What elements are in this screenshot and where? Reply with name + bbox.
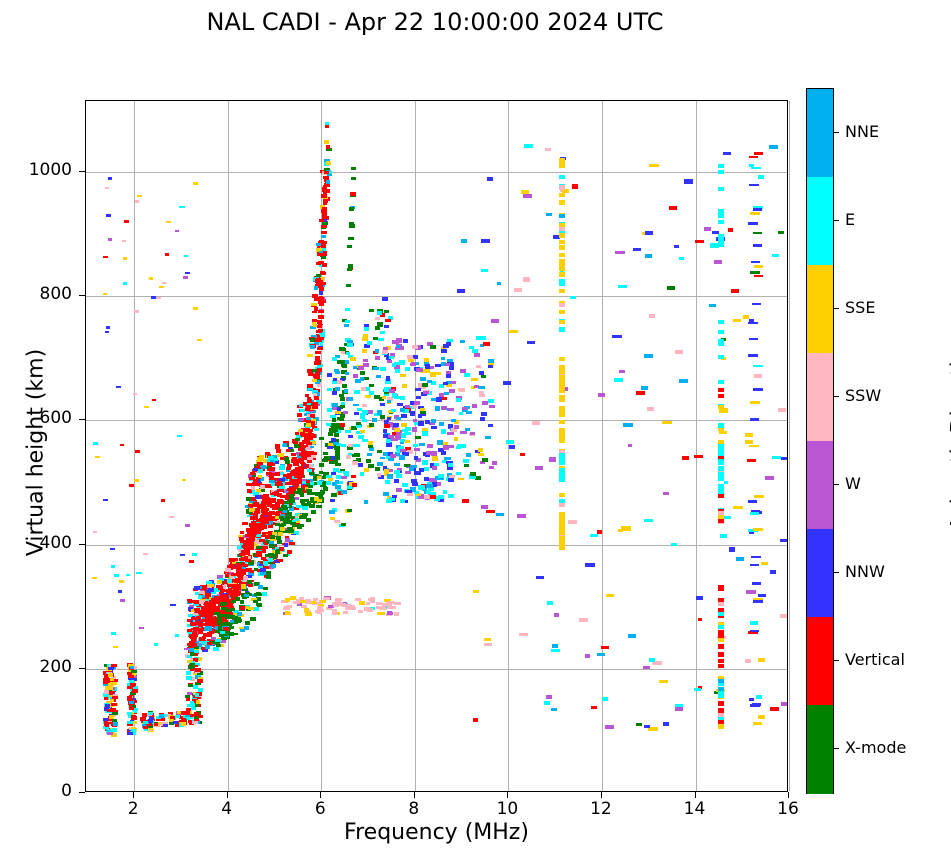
echo-point [559, 161, 565, 165]
echo-point [341, 444, 346, 447]
echo-point [129, 484, 133, 487]
echo-point [718, 339, 724, 343]
echo-point [754, 374, 762, 378]
echo-point [343, 471, 349, 475]
echo-point [385, 480, 390, 484]
echo-point [559, 412, 565, 416]
echo-point [316, 278, 321, 282]
echo-point [523, 277, 530, 281]
echo-point [269, 480, 275, 483]
echo-point [258, 475, 263, 479]
echo-point [367, 341, 372, 345]
echo-point [111, 703, 117, 707]
echo-point [698, 618, 703, 621]
echo-point [405, 440, 411, 443]
echo-point [131, 729, 137, 732]
echo-point [222, 602, 227, 605]
echo-point [368, 410, 373, 414]
echo-point [165, 253, 170, 256]
echo-point [478, 453, 484, 456]
echo-point [459, 412, 464, 416]
echo-point [341, 523, 346, 526]
echo-point [750, 512, 760, 515]
echo-point [748, 354, 758, 357]
echo-point [443, 445, 449, 450]
echo-point [110, 678, 115, 681]
echo-point [127, 698, 132, 702]
echo-point [122, 240, 127, 243]
x-tick [133, 792, 134, 798]
echo-point [478, 448, 483, 452]
echo-point [195, 592, 199, 596]
echo-point [487, 177, 493, 181]
echo-point [380, 415, 385, 419]
echo-point [253, 531, 258, 535]
echo-point [336, 475, 341, 478]
echo-point [240, 600, 244, 604]
echo-point [319, 287, 324, 291]
echo-point [250, 617, 255, 621]
echo-point [264, 502, 269, 505]
echo-point [321, 225, 326, 228]
echo-point [753, 244, 763, 247]
echo-point [335, 450, 339, 454]
echo-point [579, 618, 588, 622]
echo-point [119, 580, 124, 583]
echo-point [305, 499, 309, 502]
echo-point [323, 458, 328, 462]
colorbar-tick [833, 308, 839, 309]
echo-point [321, 231, 326, 234]
echo-point [422, 431, 429, 436]
echo-point [718, 320, 724, 324]
echo-point [559, 473, 565, 477]
echo-point [319, 437, 324, 440]
echo-point [621, 526, 631, 530]
echo-point [772, 254, 779, 257]
echo-point [233, 633, 238, 636]
echo-point [368, 464, 373, 468]
echo-point [104, 696, 109, 700]
echo-point [347, 486, 353, 489]
echo-point [765, 476, 774, 480]
echo-point [426, 484, 432, 488]
echo-point [718, 585, 724, 589]
echo-point [335, 485, 341, 489]
echo-point [307, 399, 312, 403]
echo-point [750, 271, 760, 274]
echo-point [191, 617, 197, 620]
echo-point [380, 367, 386, 371]
echo-point [318, 330, 323, 333]
echo-point [401, 423, 407, 428]
echo-point [546, 695, 552, 699]
echo-point [463, 459, 469, 463]
echo-point [718, 612, 724, 616]
echo-point [237, 574, 243, 577]
echo-point [718, 625, 724, 629]
echo-point [396, 338, 402, 343]
echo-point [341, 490, 347, 494]
echo-point [391, 438, 398, 441]
page-title: NAL CADI - Apr 22 10:00:00 2024 UTC [0, 8, 870, 36]
echo-point [287, 527, 293, 531]
echo-point [547, 601, 553, 605]
echo-point [190, 641, 195, 645]
echo-point [123, 257, 128, 260]
echo-point [317, 320, 322, 324]
echo-point [277, 540, 282, 544]
echo-point [598, 393, 605, 397]
echo-point [213, 647, 219, 651]
echo-point [472, 404, 477, 408]
echo-point [268, 516, 273, 520]
echo-point [758, 175, 764, 179]
echo-point [206, 590, 211, 593]
echo-point [347, 606, 352, 609]
echo-point [372, 418, 376, 422]
echo-point [754, 275, 764, 278]
echo-point [772, 456, 781, 459]
echo-point [316, 248, 322, 252]
echo-point [270, 498, 275, 502]
echo-point [750, 418, 760, 421]
echo-point [431, 381, 436, 384]
echo-point [198, 715, 203, 718]
echo-point [330, 415, 336, 419]
echo-point [317, 347, 323, 350]
echo-point [489, 405, 495, 408]
echo-point [445, 363, 450, 367]
echo-point [718, 212, 724, 216]
echo-point [400, 374, 406, 377]
echo-point [647, 407, 654, 411]
echo-point [462, 499, 469, 503]
echo-point [488, 365, 493, 369]
echo-point [484, 643, 492, 647]
echo-point [229, 558, 235, 562]
echo-point [385, 319, 390, 323]
echo-point [162, 282, 166, 285]
echo-point [368, 441, 373, 445]
echo-point [107, 709, 113, 712]
echo-point [305, 464, 309, 468]
x-tick-label: 12 [581, 799, 621, 819]
echo-point [619, 370, 625, 373]
echo-point [432, 466, 437, 470]
echo-point [290, 522, 296, 526]
echo-point [326, 180, 331, 184]
echo-point [492, 461, 497, 465]
echo-point [466, 453, 471, 457]
echo-point [251, 486, 255, 490]
echo-point [718, 659, 724, 663]
echo-point [283, 520, 289, 523]
echo-point [299, 471, 304, 474]
echo-point [322, 187, 328, 191]
echo-point [753, 365, 763, 368]
echo-point [192, 553, 197, 556]
echo-point [410, 411, 415, 415]
echo-point [166, 221, 171, 224]
echo-point [570, 296, 577, 300]
echo-point [407, 355, 412, 359]
echo-point [354, 390, 360, 394]
echo-point [769, 145, 779, 149]
echo-point [523, 194, 533, 198]
echo-point [135, 450, 139, 453]
echo-point [346, 284, 351, 287]
echo-point [310, 345, 315, 349]
colorbar-tick-label-w: W [845, 474, 861, 493]
echo-point [623, 423, 633, 427]
echo-point [748, 500, 758, 503]
echo-point [509, 445, 515, 449]
echo-point [724, 481, 729, 484]
echo-point [733, 319, 741, 323]
echo-point [190, 623, 195, 626]
echo-point [118, 590, 123, 593]
echo-point [753, 232, 763, 235]
echo-point [144, 406, 149, 409]
echo-point [316, 505, 322, 508]
echo-point [345, 372, 350, 375]
echo-point [559, 175, 565, 179]
echo-point [231, 600, 236, 604]
echo-point [520, 453, 525, 456]
echo-point [358, 366, 364, 370]
echo-point [748, 222, 758, 225]
echo-point [559, 289, 565, 293]
echo-point [718, 713, 724, 717]
echo-point [758, 658, 766, 662]
echo-point [746, 590, 756, 594]
echo-point [485, 436, 492, 439]
echo-point [718, 466, 724, 471]
echo-point [148, 712, 153, 715]
echo-point [108, 667, 114, 670]
echo-point [387, 474, 393, 479]
echo-point [335, 598, 342, 602]
echo-point [360, 472, 365, 476]
echo-point [464, 373, 470, 377]
echo-point [181, 722, 186, 726]
echo-point [244, 626, 248, 630]
echo-point [496, 513, 505, 517]
echo-point [559, 193, 565, 197]
echo-point [349, 222, 354, 225]
echo-point [718, 515, 724, 519]
echo-point [350, 357, 356, 361]
echo-point [311, 303, 317, 307]
echo-point [535, 466, 543, 470]
echo-point [293, 483, 299, 487]
echo-point [279, 516, 284, 519]
echo-point [382, 396, 386, 399]
echo-point [663, 492, 669, 496]
echo-point [384, 310, 389, 313]
echo-point [448, 478, 454, 481]
echo-point [506, 440, 514, 444]
echo-point [395, 369, 400, 373]
echo-point [317, 476, 322, 479]
echo-point [198, 630, 203, 634]
echo-point [480, 417, 485, 420]
echo-point [405, 490, 412, 494]
echo-point [383, 429, 388, 433]
echo-point [156, 297, 161, 300]
echo-point [321, 194, 327, 197]
echo-point [286, 449, 291, 452]
echo-point [745, 440, 753, 444]
echo-point [411, 465, 417, 469]
echo-point [244, 594, 250, 598]
echo-point [559, 227, 565, 231]
echo-point [188, 684, 193, 687]
echo-point [306, 417, 311, 420]
echo-point [320, 282, 326, 285]
echo-point [412, 427, 417, 432]
echo-point [308, 485, 313, 488]
echo-point [718, 187, 724, 191]
echo-point [362, 349, 367, 353]
echo-point [662, 421, 672, 424]
echo-point [319, 337, 324, 340]
echo-point [756, 695, 762, 699]
echo-point [364, 324, 369, 327]
echo-point [211, 604, 216, 608]
echo-point [752, 303, 762, 306]
echo-point [152, 399, 156, 402]
echo-point [559, 530, 565, 534]
echo-point [489, 466, 494, 469]
echo-point [527, 341, 535, 344]
echo-point [375, 317, 380, 320]
echo-point [231, 573, 236, 576]
echo-point [104, 690, 109, 693]
echo-point [364, 468, 370, 472]
echo-point [750, 564, 760, 567]
echo-point [416, 368, 423, 372]
echo-point [348, 397, 353, 401]
echo-point [308, 373, 314, 376]
colorbar [806, 88, 834, 794]
echo-point [377, 473, 382, 477]
echo-point [185, 524, 190, 527]
echo-point [273, 473, 278, 476]
echo-point [297, 413, 301, 417]
echo-point [718, 380, 724, 384]
echo-point [321, 272, 327, 275]
echo-point [362, 337, 367, 341]
echo-point [362, 404, 367, 407]
echo-point [749, 338, 759, 341]
echo-point [544, 701, 550, 705]
echo-point [394, 479, 399, 483]
echo-point [143, 553, 148, 556]
echo-point [332, 391, 337, 395]
echo-point [781, 457, 787, 461]
echo-point [307, 384, 312, 388]
echo-point [248, 542, 254, 546]
echo-point [432, 482, 437, 487]
echo-point [195, 668, 200, 672]
echo-point [350, 192, 356, 196]
ionogram-plot-area [85, 100, 788, 792]
echo-point [312, 322, 317, 325]
echo-point [380, 403, 385, 406]
echo-point [546, 213, 552, 216]
echo-point [359, 601, 365, 604]
echo-point [317, 325, 322, 328]
y-axis-label: Virtual height (km) [24, 283, 49, 623]
echo-point [383, 492, 389, 496]
echo-point [340, 405, 345, 408]
echo-point [257, 457, 263, 461]
echo-point [466, 411, 472, 414]
echo-point [748, 322, 758, 325]
colorbar-segment-nne [807, 89, 833, 178]
echo-point [431, 451, 437, 456]
echo-point [130, 666, 135, 670]
echo-point [250, 517, 255, 520]
echo-point [154, 643, 158, 646]
echo-point [386, 442, 392, 447]
echo-point [559, 310, 565, 314]
echo-point [718, 164, 724, 168]
x-axis-label: Frequency (MHz) [85, 820, 788, 845]
x-tick [507, 792, 508, 798]
echo-point [229, 564, 235, 568]
echo-point [718, 679, 724, 683]
echo-point [347, 268, 353, 271]
x-tick [320, 792, 321, 798]
colorbar-tick-label-nne: NNE [845, 122, 879, 141]
x-tick-label: 14 [675, 799, 715, 819]
echo-point [293, 531, 299, 535]
echo-point [679, 257, 684, 260]
echo-point [386, 376, 391, 381]
echo-point [283, 554, 288, 557]
echo-point [123, 282, 128, 285]
colorbar-tick [833, 660, 839, 661]
echo-point [312, 510, 317, 513]
echo-point [253, 607, 259, 611]
echo-point [400, 499, 405, 503]
echo-point [614, 378, 623, 382]
echo-point [559, 240, 565, 244]
echo-point [306, 405, 311, 409]
echo-point [644, 354, 653, 358]
echo-point [488, 424, 493, 427]
echo-point [559, 245, 565, 249]
echo-point [331, 493, 336, 497]
echo-point [447, 432, 454, 435]
echo-point [422, 383, 428, 387]
echo-point [423, 391, 429, 394]
echo-point [211, 601, 217, 605]
echo-point [473, 718, 479, 722]
echo-point [112, 696, 118, 699]
echo-point [750, 212, 760, 215]
echo-point [306, 442, 312, 446]
echo-point [435, 406, 440, 411]
echo-point [743, 315, 749, 319]
colorbar-tick [833, 748, 839, 749]
echo-point [268, 558, 273, 562]
echo-point [302, 506, 307, 510]
colorbar-tick [833, 220, 839, 221]
